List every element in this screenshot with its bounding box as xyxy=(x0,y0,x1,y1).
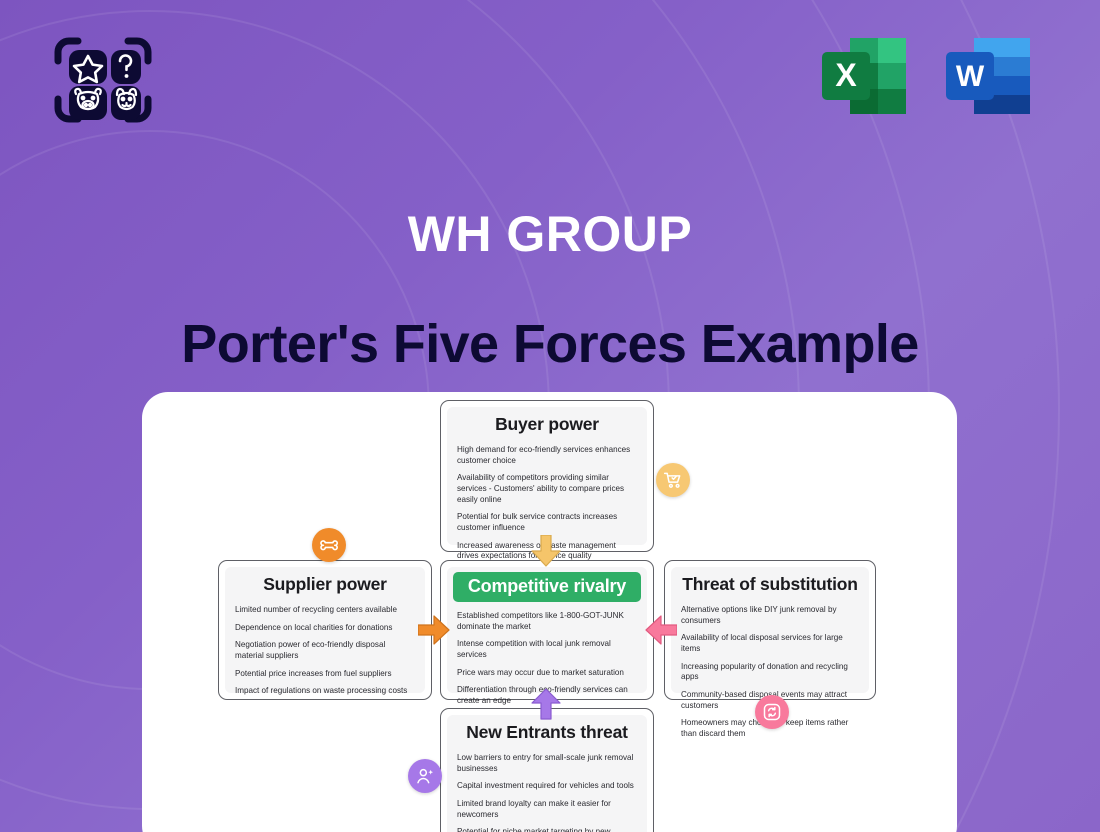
list-item: Low barriers to entry for small-scale ju… xyxy=(457,753,637,774)
arrow-buyer-down xyxy=(531,535,561,567)
list-item: Intense competition with local junk remo… xyxy=(457,639,637,660)
slide-canvas: X W WH GROUP Porter's Five Forces Exampl… xyxy=(0,0,1100,832)
list-item: Potential price increases from fuel supp… xyxy=(235,669,415,680)
swap-refresh-icon xyxy=(755,695,789,729)
force-inner: Threat of substitution Alternative optio… xyxy=(671,567,869,693)
list-item: Availability of local disposal services … xyxy=(681,633,859,654)
force-box-substitution[interactable]: Threat of substitution Alternative optio… xyxy=(664,560,876,700)
force-box-buyer[interactable]: Buyer power High demand for eco-friendly… xyxy=(440,400,654,552)
force-inner: Supplier power Limited number of recycli… xyxy=(225,567,425,693)
porters-five-forces-diagram: Buyer power High demand for eco-friendly… xyxy=(142,392,957,832)
list-item: Increasing popularity of donation and re… xyxy=(681,662,859,683)
page-title: Porter's Five Forces Example xyxy=(0,313,1100,375)
list-item: High demand for eco-friendly services en… xyxy=(457,445,637,466)
list-item: Limited brand loyalty can make it easier… xyxy=(457,799,637,820)
document-card: Buyer power High demand for eco-friendly… xyxy=(142,392,957,832)
list-item: Alternative options like DIY junk remova… xyxy=(681,605,859,626)
list-item: Limited number of recycling centers avai… xyxy=(235,605,415,616)
add-user-icon xyxy=(408,759,442,793)
list-item: Dependence on local charities for donati… xyxy=(235,623,415,634)
excel-icon[interactable]: X xyxy=(816,28,912,124)
list-item: Potential for niche market targeting by … xyxy=(457,827,637,832)
list-item: Negotiation power of eco-friendly dispos… xyxy=(235,640,415,661)
force-inner: Competitive rivalry Established competit… xyxy=(447,567,647,693)
list-item: Price wars may occur due to market satur… xyxy=(457,668,637,679)
force-title-rivalry: Competitive rivalry xyxy=(453,572,641,602)
force-box-rivalry[interactable]: Competitive rivalry Established competit… xyxy=(440,560,654,700)
force-title-supplier: Supplier power xyxy=(235,574,415,595)
arrow-new-entrants-up xyxy=(531,688,561,720)
wh-group-logo xyxy=(45,28,161,132)
list-item: Potential for bulk service contracts inc… xyxy=(457,512,637,533)
force-title-buyer: Buyer power xyxy=(457,414,637,435)
arrow-substitution-left xyxy=(645,615,677,645)
svg-text:W: W xyxy=(956,60,985,93)
svg-text:X: X xyxy=(835,57,857,93)
word-icon[interactable]: W xyxy=(940,28,1036,124)
force-list-supplier: Limited number of recycling centers avai… xyxy=(235,605,415,697)
force-box-new-entrants[interactable]: New Entrants threat Low barriers to entr… xyxy=(440,708,654,832)
list-item: Availability of competitors providing si… xyxy=(457,473,637,505)
force-inner: New Entrants threat Low barriers to entr… xyxy=(447,715,647,832)
arrow-supplier-right xyxy=(418,615,450,645)
list-item: Capital investment required for vehicles… xyxy=(457,781,637,792)
bone-icon xyxy=(312,528,346,562)
force-list-new-entrants: Low barriers to entry for small-scale ju… xyxy=(457,753,637,832)
force-title-substitution: Threat of substitution xyxy=(681,574,859,595)
shopping-cart-icon xyxy=(656,463,690,497)
force-box-supplier[interactable]: Supplier power Limited number of recycli… xyxy=(218,560,432,700)
brand-title: WH GROUP xyxy=(0,205,1100,263)
force-inner: Buyer power High demand for eco-friendly… xyxy=(447,407,647,545)
force-title-new-entrants: New Entrants threat xyxy=(457,722,637,743)
list-item: Impact of regulations on waste processin… xyxy=(235,686,415,697)
list-item: Established competitors like 1-800-GOT-J… xyxy=(457,611,637,632)
